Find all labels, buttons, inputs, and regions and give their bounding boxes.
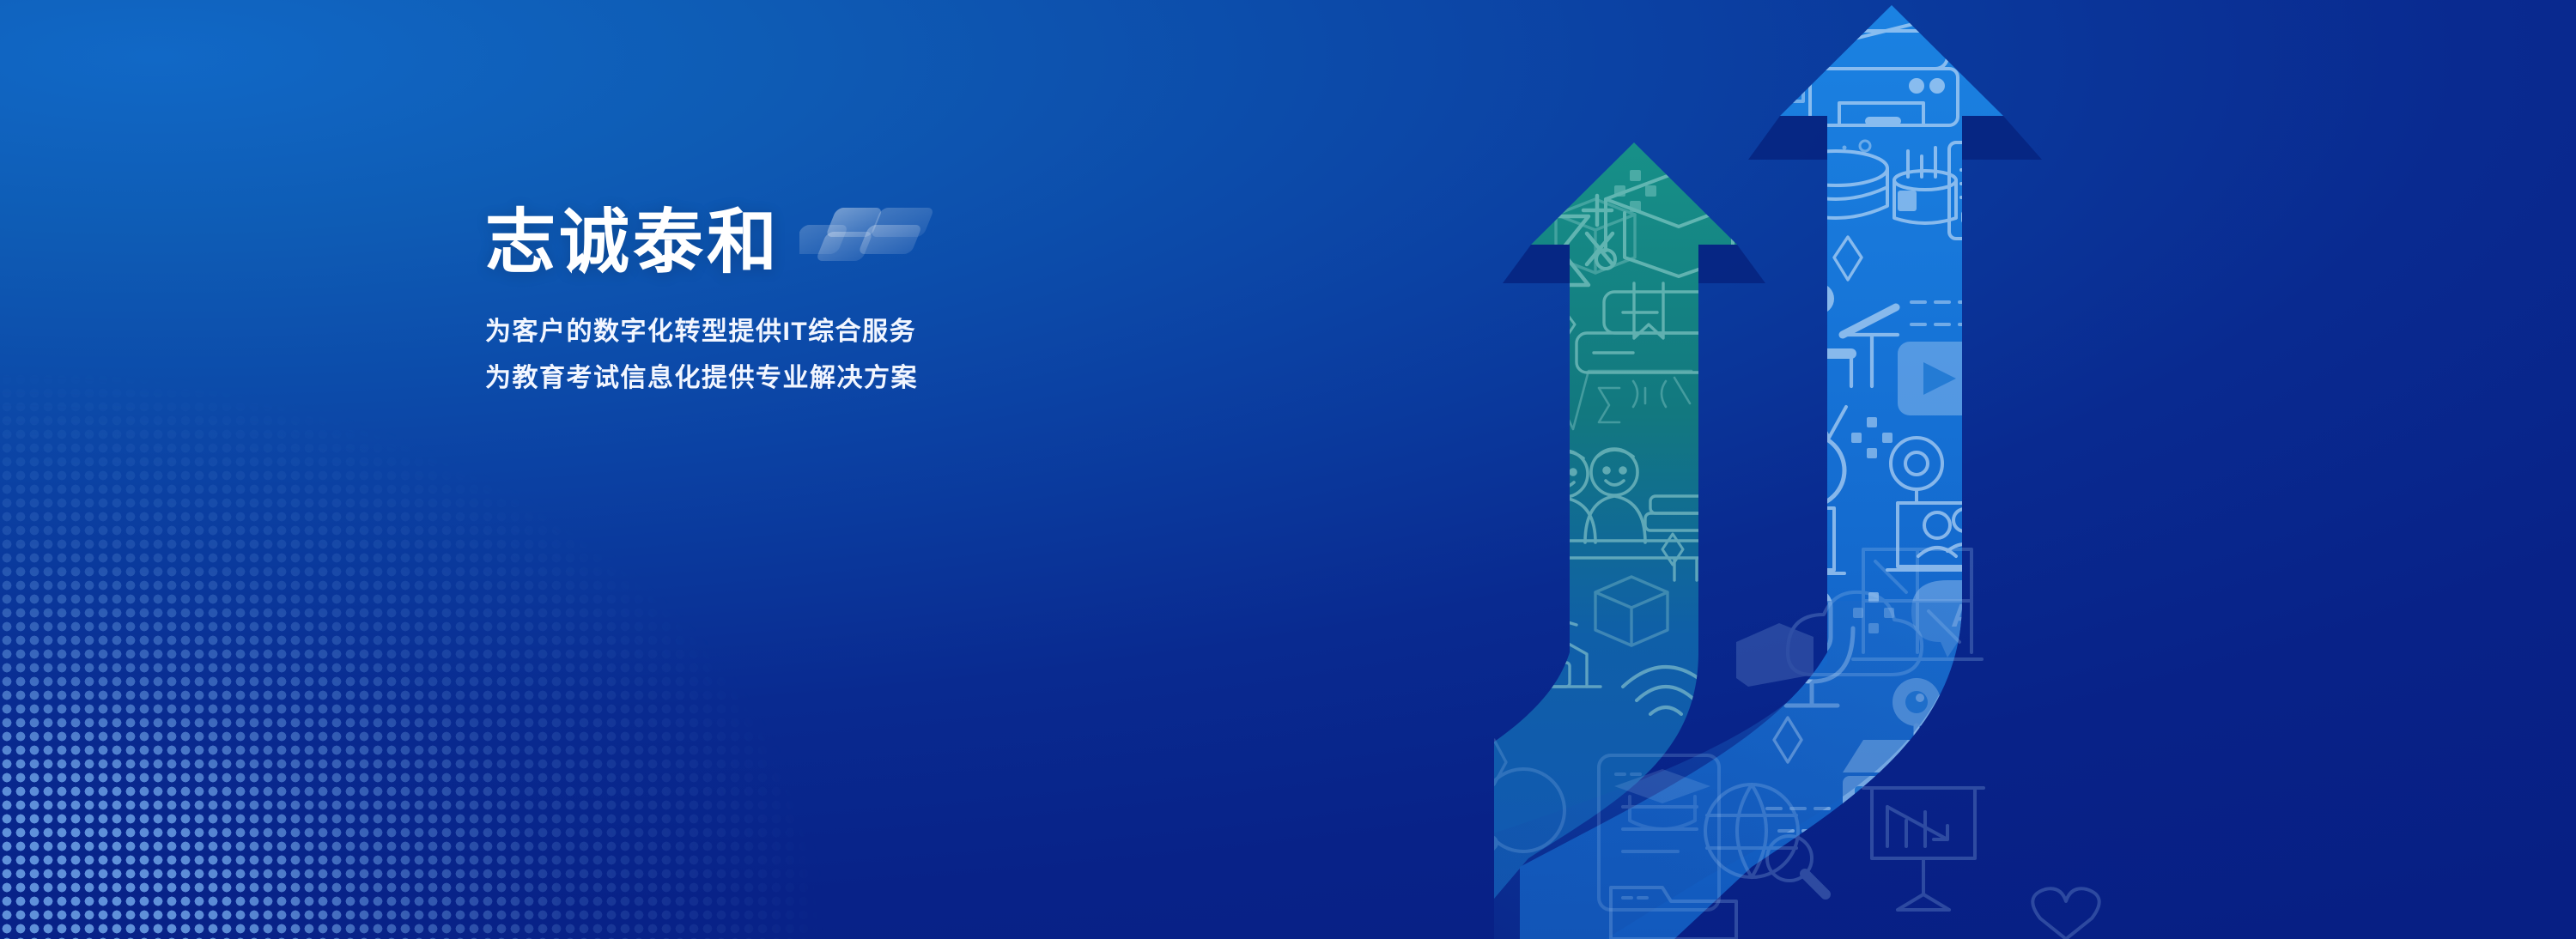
hero-copy: 志诚泰和: [485, 203, 954, 392]
parallelogram-mark-icon: [799, 203, 954, 266]
tagline-1: 为客户的数字化转型提供IT综合服务: [485, 318, 954, 347]
taglines: 为客户的数字化转型提供IT综合服务 为教育考试信息化提供专业解决方案: [485, 318, 954, 392]
hard-drive-icon: [1736, 623, 1814, 687]
tagline-2: 为教育考试信息化提供专业解决方案: [485, 364, 954, 393]
hero-banner: AI: [0, 0, 2576, 939]
brand-row: 志诚泰和: [485, 203, 954, 278]
presentation-chart-icon: [1863, 788, 1984, 910]
video-camera-icon: [1898, 342, 1992, 415]
brand-name: 志诚泰和: [485, 208, 781, 278]
arrows-artwork: AI: [1494, 0, 2576, 939]
heart-icon: [2032, 888, 2099, 939]
monitor-icon: [1752, 51, 1803, 101]
